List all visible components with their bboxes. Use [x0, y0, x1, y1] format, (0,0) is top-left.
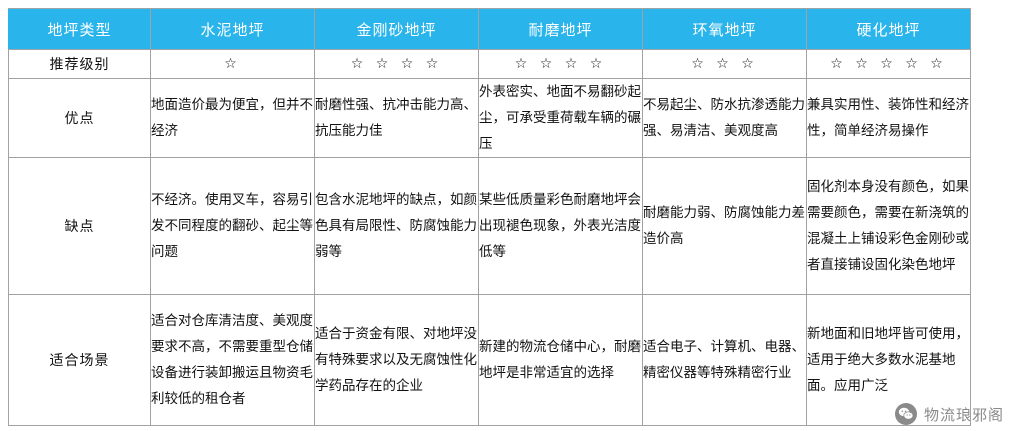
column-header-type: 地坪类型 — [9, 9, 151, 50]
cons-cement: 不经济。使用叉车，容易引发不同程度的翻砂、起尘等问题 — [151, 158, 315, 295]
row-label-recommendation: 推荐级别 — [9, 50, 151, 79]
cons-epoxy: 耐磨能力弱、防腐蚀能力差造价高 — [643, 158, 807, 295]
scenarios-cement: 适合对仓库清洁度、美观度要求不高，不需要重型仓储设备进行装卸搬运且物资毛利较低的… — [151, 295, 315, 426]
rating-stars-wear-resistant: ☆ ☆ ☆ ☆ — [479, 50, 643, 79]
cons-hardened: 固化剂本身没有颜色，如果需要颜色，需要在新浇筑的混凝土上铺设彩色金刚砂或者直接铺… — [807, 158, 971, 295]
pros-cement: 地面造价最为便宜，但并不经济 — [151, 79, 315, 158]
pros-emery: 耐磨性强、抗冲击能力高、抗压能力佳 — [315, 79, 479, 158]
column-header-wear-resistant: 耐磨地坪 — [479, 9, 643, 50]
rating-stars-epoxy: ☆ ☆ ☆ — [643, 50, 807, 79]
column-header-cement: 水泥地坪 — [151, 9, 315, 50]
pros-epoxy: 不易起尘、防水抗渗透能力强、易清洁、美观度高 — [643, 79, 807, 158]
table-header-row: 地坪类型 水泥地坪 金刚砂地坪 耐磨地坪 环氧地坪 硬化地坪 — [9, 9, 971, 50]
column-header-hardened: 硬化地坪 — [807, 9, 971, 50]
rating-stars-cement: ☆ — [151, 50, 315, 79]
scenarios-epoxy: 适合电子、计算机、电器、精密仪器等特殊精密行业 — [643, 295, 807, 426]
floor-comparison-sheet: 地坪类型 水泥地坪 金刚砂地坪 耐磨地坪 环氧地坪 硬化地坪 推荐级别 ☆ ☆ … — [8, 8, 970, 426]
column-header-emery: 金刚砂地坪 — [315, 9, 479, 50]
pros-wear-resistant: 外表密实、地面不易翻砂起尘，可承受重荷载车辆的碾压 — [479, 79, 643, 158]
table-row: 适合场景 适合对仓库清洁度、美观度要求不高，不需要重型仓储设备进行装卸搬运且物资… — [9, 295, 971, 426]
rating-stars-emery: ☆ ☆ ☆ ☆ — [315, 50, 479, 79]
floor-comparison-table: 地坪类型 水泥地坪 金刚砂地坪 耐磨地坪 环氧地坪 硬化地坪 推荐级别 ☆ ☆ … — [8, 8, 971, 426]
row-label-cons: 缺点 — [9, 158, 151, 295]
pros-hardened: 兼具实用性、装饰性和经济性，简单经济易操作 — [807, 79, 971, 158]
row-label-scenarios: 适合场景 — [9, 295, 151, 426]
table-row: 缺点 不经济。使用叉车，容易引发不同程度的翻砂、起尘等问题 包含水泥地坪的缺点，… — [9, 158, 971, 295]
column-header-epoxy: 环氧地坪 — [643, 9, 807, 50]
wechat-icon — [895, 403, 917, 425]
scenarios-wear-resistant: 新建的物流仓储中心，耐磨地坪是非常适宜的选择 — [479, 295, 643, 426]
row-label-pros: 优点 — [9, 79, 151, 158]
table-row: 优点 地面造价最为便宜，但并不经济 耐磨性强、抗冲击能力高、抗压能力佳 外表密实… — [9, 79, 971, 158]
table-row: 推荐级别 ☆ ☆ ☆ ☆ ☆ ☆ ☆ ☆ ☆ ☆ ☆ ☆ ☆ ☆ ☆ ☆ ☆ — [9, 50, 971, 79]
watermark: 物流琅邪阁 — [895, 403, 1004, 425]
scenarios-emery: 适合于资金有限、对地坪没有特殊要求以及无腐蚀性化学药品存在的企业 — [315, 295, 479, 426]
cons-wear-resistant: 某些低质量彩色耐磨地坪会出现褪色现象，外表光洁度低等 — [479, 158, 643, 295]
rating-stars-hardened: ☆ ☆ ☆ ☆ ☆ — [807, 50, 971, 79]
watermark-label: 物流琅邪阁 — [924, 404, 1004, 425]
cons-emery: 包含水泥地坪的缺点，如颜色具有局限性、防腐蚀能力弱等 — [315, 158, 479, 295]
